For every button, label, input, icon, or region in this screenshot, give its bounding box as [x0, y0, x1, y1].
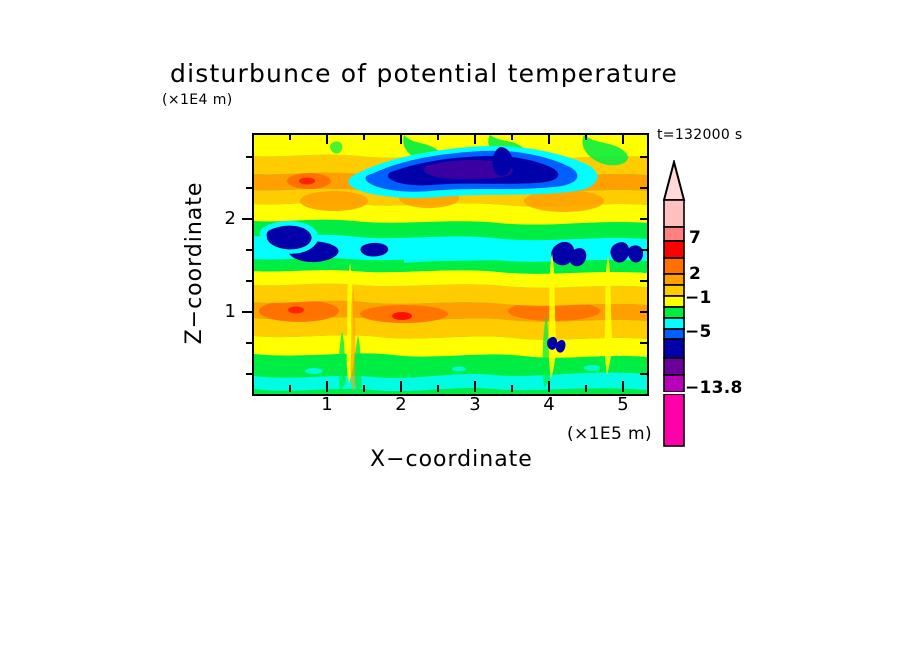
x-tick-label-1: 1 [307, 394, 347, 415]
colorbar-label-neg1: −1 [685, 288, 712, 308]
x-tick-label-2: 2 [381, 394, 421, 415]
x-tick-label-4: 4 [529, 394, 569, 415]
x-tick-label-3: 3 [455, 394, 495, 415]
colorbar-label-neg13-8: −13.8 [685, 378, 743, 398]
x-tick-major [622, 381, 624, 392]
x-tick-top [585, 133, 587, 140]
colorbar-label-7: 7 [689, 228, 701, 248]
x-tick [585, 385, 587, 392]
figure-canvas: disturbunce of potential temperature (×1… [0, 0, 904, 654]
x-tick-major [548, 381, 550, 392]
y-tick-major [242, 218, 253, 220]
y-axis-title: Z−coordinate [182, 0, 207, 163]
y-tick-right [640, 187, 647, 189]
x-axis-units: (×1E5 m) [567, 424, 652, 444]
y-tick-right [640, 249, 647, 251]
y-tick-right [640, 373, 647, 375]
x-tick-label-5: 5 [603, 394, 643, 415]
contour-plot-area [252, 133, 649, 396]
y-tick [246, 249, 253, 251]
y-tick-right [640, 311, 647, 313]
y-tick [246, 373, 253, 375]
y-tick [246, 187, 253, 189]
x-tick-top-major [400, 133, 402, 144]
contour-field [254, 135, 647, 394]
x-tick-top [437, 133, 439, 140]
x-tick-major [474, 381, 476, 392]
y-tick-right [640, 280, 647, 282]
colorbar-label-2: 2 [689, 264, 701, 284]
x-tick [289, 385, 291, 392]
x-tick-top-major [548, 133, 550, 144]
y-tick-major [242, 311, 253, 313]
x-tick-top [289, 133, 291, 140]
x-tick [363, 385, 365, 392]
timestamp-label: t=132000 s [657, 127, 742, 143]
x-tick-top-major [622, 133, 624, 144]
y-axis-title-text: Z−coordinate [182, 163, 207, 363]
colorbar-tail-svg [663, 394, 697, 449]
y-tick [246, 280, 253, 282]
x-axis-title: X−coordinate [370, 447, 533, 472]
colorbar-label-neg5: −5 [685, 322, 712, 342]
y-tick-right [640, 156, 647, 158]
x-tick [511, 385, 513, 392]
x-tick-top [363, 133, 365, 140]
x-tick-top-major [474, 133, 476, 144]
x-tick-major [400, 381, 402, 392]
y-tick [246, 156, 253, 158]
y-tick [246, 342, 253, 344]
x-tick-major [326, 381, 328, 392]
x-tick-top-major [326, 133, 328, 144]
y-tick-label-2: 2 [206, 208, 236, 229]
x-tick [437, 385, 439, 392]
x-tick-top [511, 133, 513, 140]
y-tick-label-1: 1 [206, 301, 236, 322]
y-tick-right [640, 342, 647, 344]
colorbar-arrow-icon [664, 162, 684, 200]
y-tick-right [640, 218, 647, 220]
page-title: disturbunce of potential temperature [170, 59, 678, 88]
